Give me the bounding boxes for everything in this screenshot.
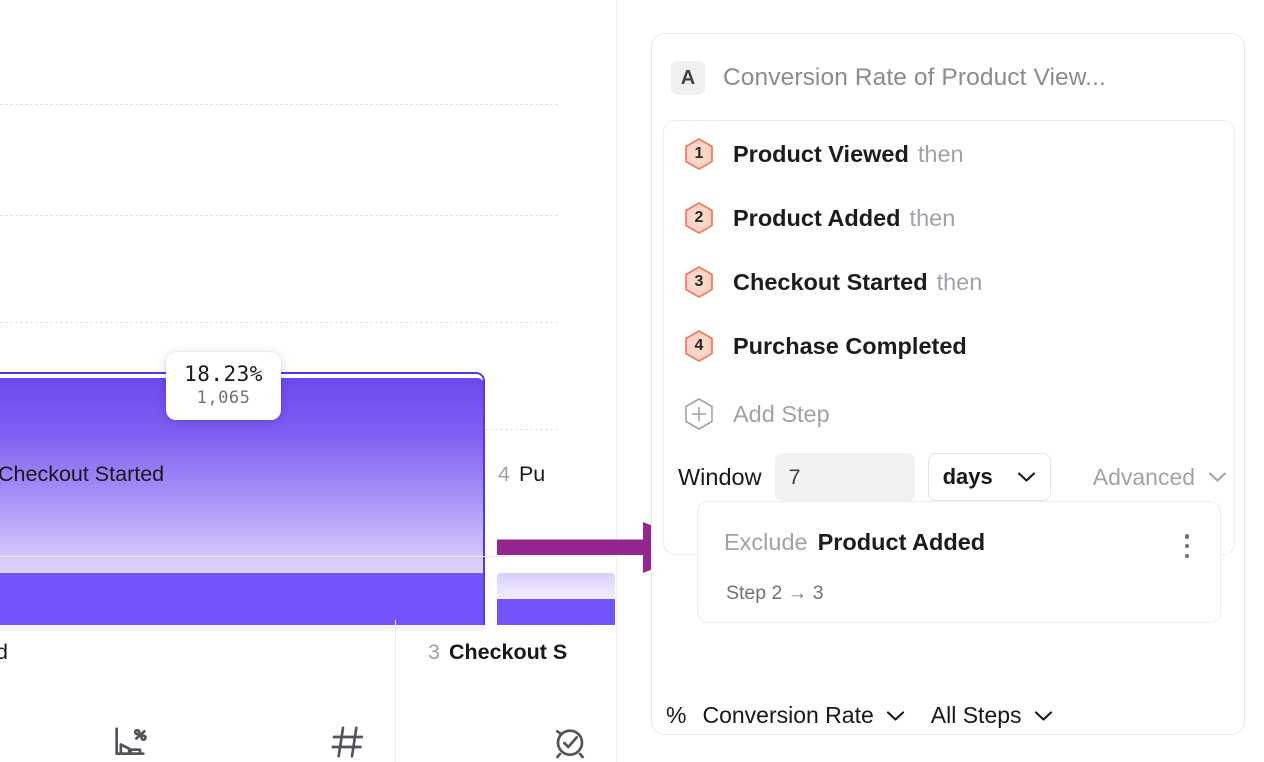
metric-label: Conversion Rate [702, 702, 873, 729]
percent-icon: % [666, 702, 686, 729]
step-then: then [937, 269, 983, 296]
chart-tooltip: 18.23% 1,065 [166, 352, 281, 420]
window-unit-dropdown[interactable]: days [928, 453, 1051, 501]
pane-divider [616, 0, 617, 762]
tooltip-count: 1,065 [182, 387, 265, 409]
advanced-dropdown[interactable]: Advanced [1093, 464, 1227, 491]
axis-label-purchase-completed: 4Pu [498, 462, 545, 487]
step-row-1[interactable]: 1 Product Viewed then [682, 137, 964, 171]
bar-solid-base [0, 573, 485, 625]
window-unit-label: days [943, 464, 993, 490]
series-letter-badge: A [671, 61, 705, 95]
funnel-percent-icon[interactable] [110, 722, 150, 762]
add-step-label: Add Step [733, 401, 830, 428]
chevron-down-icon [1034, 710, 1053, 722]
hash-icon[interactable] [328, 722, 368, 762]
add-step-row[interactable]: Add Step [682, 397, 830, 431]
scope-label: All Steps [931, 702, 1022, 729]
exclude-step-range: Step 2 → 3 [726, 582, 824, 605]
dot [1185, 534, 1190, 539]
axis-label-text: Checkout Started [0, 462, 164, 486]
bottom-card-left-label: d [0, 640, 8, 665]
app-root: 18.23% 1,065 Checkout Started 4Pu d 3Che… [0, 0, 1264, 762]
bottom-right-text: Checkout S [449, 640, 567, 664]
overflow-menu-icon[interactable] [1176, 531, 1198, 561]
step-row-2[interactable]: 2 Product Added then [682, 201, 955, 235]
advanced-label: Advanced [1093, 464, 1195, 491]
exclude-card[interactable]: Exclude Product Added Step 2 → 3 [697, 501, 1221, 623]
step-number: 4 [695, 338, 704, 354]
metric-dropdown[interactable]: Conversion Rate [702, 702, 904, 729]
step-number: 3 [695, 274, 704, 290]
step-hexagon-icon: 4 [682, 329, 716, 363]
bottom-right-index: 3 [428, 640, 440, 664]
tooltip-percent: 18.23% [182, 361, 265, 387]
step-name: Product Viewed [733, 141, 909, 168]
step-number: 1 [695, 146, 704, 162]
bottom-card-right-label: 3Checkout S [428, 640, 567, 665]
funnel-config-panel: A Conversion Rate of Product View... 1 P… [651, 33, 1245, 735]
axis-label-index: 4 [498, 462, 510, 486]
step-row-3[interactable]: 3 Checkout Started then [682, 265, 982, 299]
bottom-left-text: d [0, 640, 8, 664]
steps-card: 1 Product Viewed then 2 Product Added th… [663, 120, 1235, 555]
chevron-down-icon [1017, 471, 1036, 483]
bar-solid-base [497, 599, 615, 625]
step-hexagon-icon: 2 [682, 201, 716, 235]
step-name: Purchase Completed [733, 333, 967, 360]
exclude-target-label: Product Added [818, 529, 986, 556]
axis-label-text: Pu [519, 462, 545, 486]
panel-title[interactable]: Conversion Rate of Product View... [723, 64, 1106, 92]
exclude-header: Exclude Product Added [724, 529, 985, 556]
dot [1185, 544, 1190, 549]
step-row-4[interactable]: 4 Purchase Completed [682, 329, 967, 363]
window-row: Window days Advanced [678, 453, 1227, 501]
funnel-chart-pane: 18.23% 1,065 Checkout Started 4Pu d 3Che… [0, 0, 616, 762]
clock-check-icon[interactable] [550, 722, 590, 762]
axis-label-checkout-started: Checkout Started [0, 462, 164, 487]
panel-header: A Conversion Rate of Product View... [652, 34, 1244, 122]
scope-dropdown[interactable]: All Steps [931, 702, 1053, 729]
window-value-input[interactable] [775, 453, 915, 501]
window-label: Window [678, 464, 762, 491]
plus-hexagon-icon [682, 397, 716, 431]
panel-footer: % Conversion Rate All Steps [666, 702, 1053, 729]
chevron-down-icon [1208, 471, 1227, 483]
gridline-1 [0, 104, 558, 105]
step-then: then [910, 205, 956, 232]
step-number: 2 [695, 210, 704, 226]
step-hexagon-icon: 1 [682, 137, 716, 171]
step-hexagon-icon: 3 [682, 265, 716, 299]
step-then: then [918, 141, 964, 168]
dot [1185, 554, 1190, 559]
step-name: Product Added [733, 205, 901, 232]
step-name: Checkout Started [733, 269, 928, 296]
card-vertical-divider [395, 620, 396, 762]
chevron-down-icon [886, 710, 905, 722]
exclude-prefix-label: Exclude [724, 529, 808, 556]
